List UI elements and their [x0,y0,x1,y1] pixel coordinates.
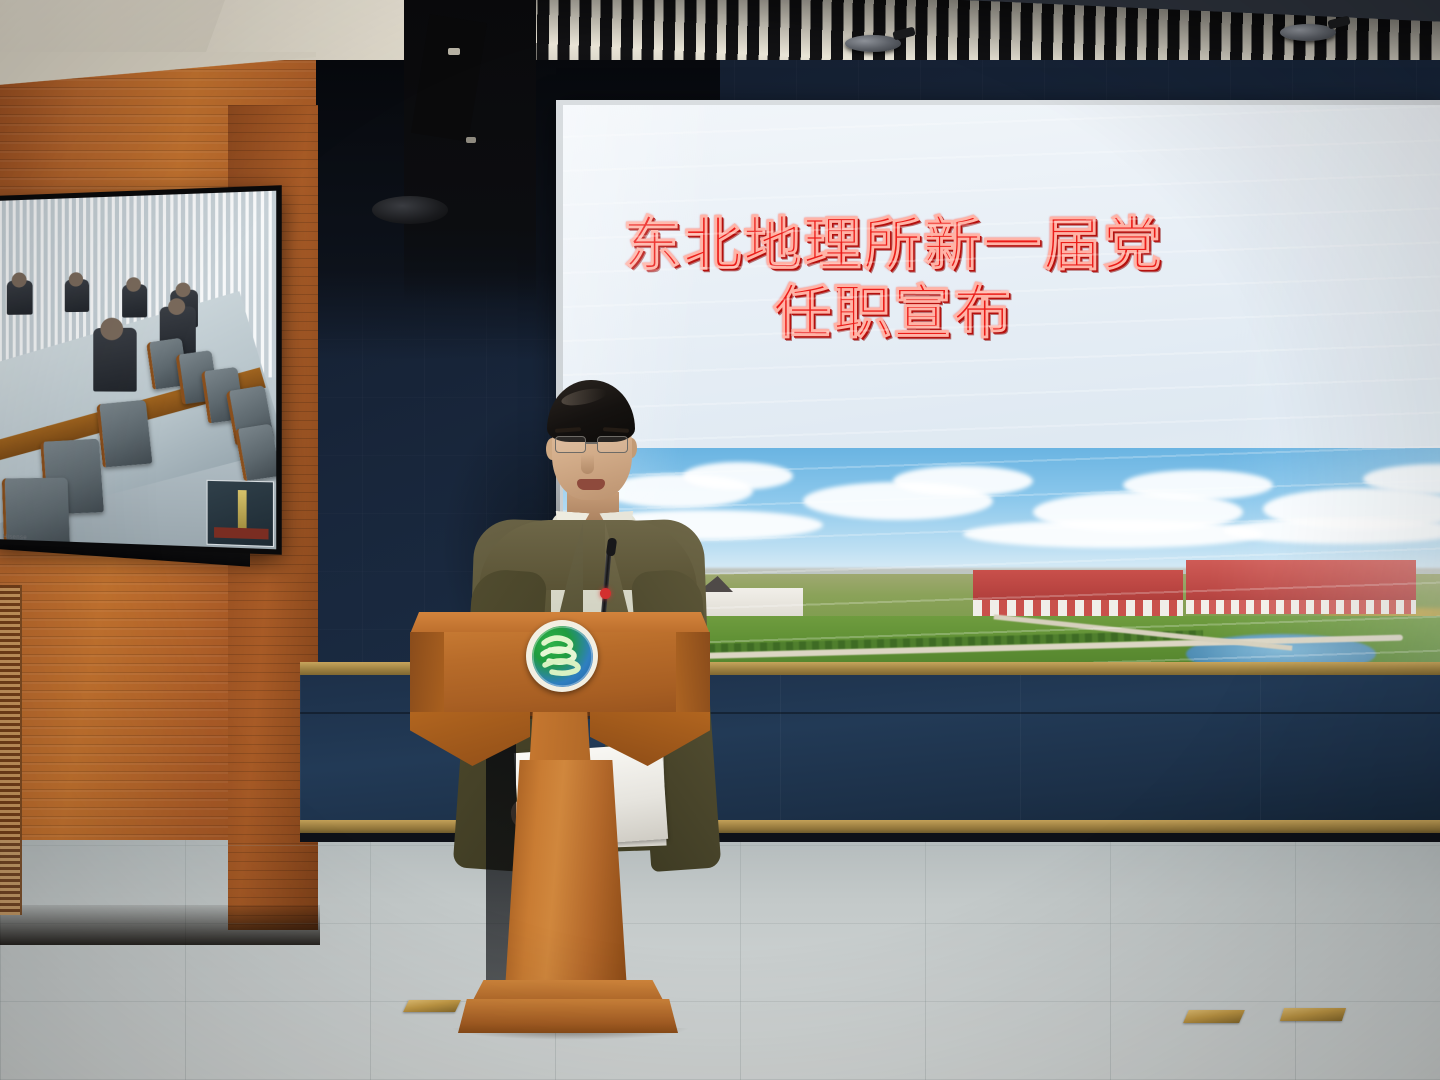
wood-wall-top-edge [0,52,316,92]
projector-lens-head [372,196,448,224]
podium-base-upper [472,980,664,1002]
campus-building-red-center [973,570,1183,618]
microphone-indicator-icon [600,588,611,599]
ceiling-speaker-icon [1280,24,1336,41]
slide-title-block: 东北地理所新一届党 任职宣布 [623,210,1440,347]
projector-indicator-icon [448,48,460,55]
cloud [893,466,1033,496]
podium-bevel-right [676,632,710,716]
meeting-chair [96,400,152,468]
hair [547,380,635,442]
inset-carpet [214,527,268,539]
mouth [577,479,605,490]
slide-title-line-2: 任职宣布 [623,278,1440,346]
glasses-lens-left [555,436,586,453]
cloud [1123,470,1273,500]
conference-hall-scene: Hisense 东北地理所新一届党 任职宣布 [0,0,1440,1080]
meeting-attendee-head [100,318,123,341]
nose [581,454,594,474]
podium-base-lower [458,999,678,1033]
glasses-bridge [586,442,597,444]
globe-emblem [526,620,598,692]
cloud [963,520,1263,548]
globe-emblem-graphic [532,626,593,687]
side-monitor[interactable]: Hisense [0,185,282,555]
glasses-icon [551,436,635,454]
podium-column [505,760,627,990]
wood-wall-base-shadow [0,905,320,945]
floor-socket-cover[interactable] [1183,1010,1245,1023]
floor-tile-lines [0,840,1440,1080]
wall-vent-grille-icon [0,585,22,915]
ceiling-speaker-icon [845,35,901,52]
inset-flag [238,490,247,532]
monitor-brand-label: Hisense [3,534,27,541]
glasses-lens-right [597,436,628,453]
campus-building-red-right [1186,560,1416,614]
meeting-attendee-head [168,298,185,315]
slide-title-line-1: 东北地理所新一届党 [623,210,1440,278]
projector-indicator-icon [466,137,476,143]
meeting-chair [235,423,277,481]
picture-in-picture-inset [207,480,275,547]
globe-emblem-waves [532,626,593,687]
floor-socket-cover[interactable] [1280,1008,1346,1021]
side-monitor-screen: Hisense [0,191,276,550]
podium-bevel-left [410,632,444,716]
floor-socket-cover[interactable] [403,1000,461,1012]
